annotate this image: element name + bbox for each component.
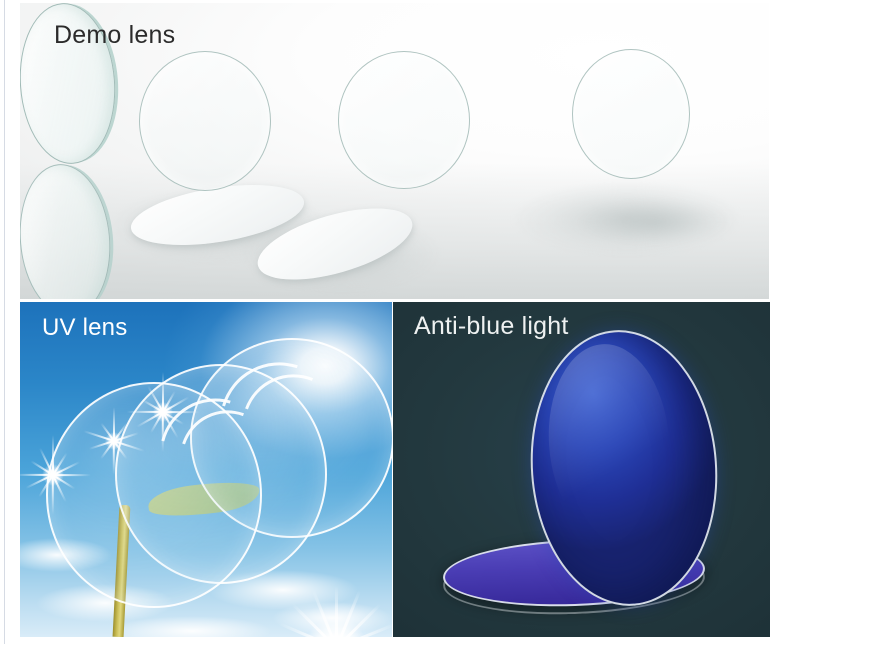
demo-lens-disc-3 xyxy=(572,49,690,179)
cloud-shape xyxy=(112,616,272,637)
panel-title-demo-lens: Demo lens xyxy=(54,21,175,50)
panel-anti-blue-light[interactable]: Anti-blue light xyxy=(393,302,770,637)
demo-lens-disc-2 xyxy=(338,51,470,189)
panel-title-anti-blue-light: Anti-blue light xyxy=(414,312,568,341)
demo-lens-disc-1 xyxy=(139,51,271,191)
panel-uv-lens[interactable]: UV lens xyxy=(20,302,392,637)
cloud-shape xyxy=(272,602,392,634)
demo-lens-shadow-far-right xyxy=(580,199,730,245)
page-left-rule xyxy=(4,0,5,644)
panel-demo-lens[interactable]: Demo lens xyxy=(20,3,769,299)
panel-title-uv-lens: UV lens xyxy=(42,314,127,342)
